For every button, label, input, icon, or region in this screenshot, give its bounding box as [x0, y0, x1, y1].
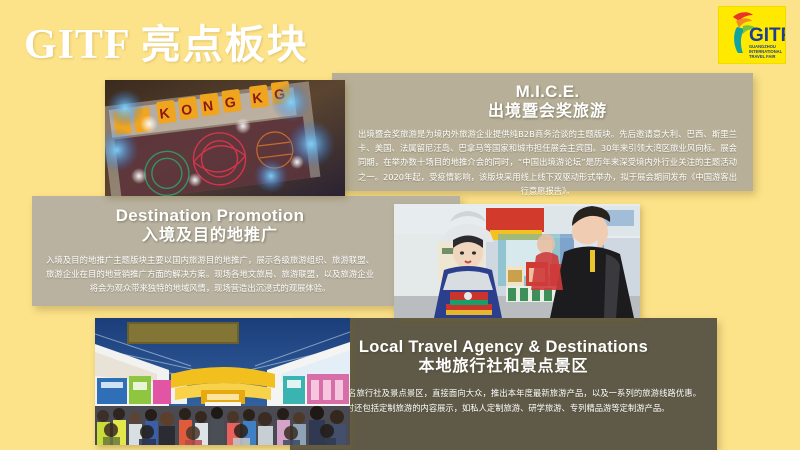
svg-text:TRAVEL FAIR: TRAVEL FAIR: [749, 54, 776, 59]
panel-local-title-cn: 本地旅行社和景点景区: [306, 357, 701, 376]
panel-mice-title-en: M.I.C.E.: [358, 82, 737, 102]
slide-canvas: GITF 亮点板块 GITF GUANGZHOU INTERNATIONAL T…: [0, 0, 800, 450]
panel-local-travel-agency: Local Travel Agency & Destinations 本地旅行社…: [290, 318, 717, 450]
photo-hongkong-neon: KONG KG: [105, 80, 345, 196]
page-title: GITF 亮点板块: [24, 12, 309, 70]
svg-text:GITF: GITF: [749, 25, 785, 46]
gitf-logo-icon: GITF GUANGZHOU INTERNATIONAL TRAVEL FAIR: [719, 7, 785, 63]
svg-text:N: N: [202, 97, 214, 114]
panel-local-heading: Local Travel Agency & Destinations 本地旅行社…: [306, 338, 701, 376]
page-title-latin: GITF: [24, 21, 131, 69]
panel-destination-title-cn: 入境及目的地推广: [46, 226, 374, 245]
photo-ethnic-costume-booth: [394, 204, 640, 318]
ethnic-costume-booth-image: [394, 204, 640, 318]
panel-mice: M.I.C.E. 出境暨会奖旅游 出境暨会奖旅游是为境内外旅游企业提供纯B2B商…: [332, 73, 753, 191]
gitf-logo: GITF GUANGZHOU INTERNATIONAL TRAVEL FAIR: [718, 6, 786, 64]
exhibition-hall-crowd-image: [95, 318, 350, 445]
panel-destination-heading: Destination Promotion 入境及目的地推广: [46, 206, 374, 245]
svg-text:G: G: [224, 93, 237, 110]
svg-text:O: O: [180, 101, 193, 118]
panel-destination-body: 入境及目的地推广主题版块主要以国内旅游目的地推广，展示各级旅游组织、旅游联盟、旅…: [46, 253, 374, 296]
panel-local-body: 汇聚各大知名旅行社及景点景区，直接面向大众，推出本年度最新旅游产品，以及一系列的…: [306, 386, 701, 415]
page-title-cjk: 亮点板块: [141, 12, 309, 70]
panel-local-title-en: Local Travel Agency & Destinations: [306, 338, 701, 357]
panel-mice-body: 出境暨会奖旅游是为境内外旅游企业提供纯B2B商务洽谈的主题版块。先后邀请意大利、…: [358, 127, 737, 198]
hongkong-neon-image: KONG KG: [105, 80, 345, 196]
svg-text:K: K: [251, 89, 263, 106]
panel-mice-title-cn: 出境暨会奖旅游: [358, 102, 737, 121]
panel-mice-heading: M.I.C.E. 出境暨会奖旅游: [358, 82, 737, 121]
photo-exhibition-hall-crowd: [95, 318, 350, 445]
svg-text:K: K: [159, 105, 171, 122]
panel-destination-title-en: Destination Promotion: [46, 206, 374, 226]
